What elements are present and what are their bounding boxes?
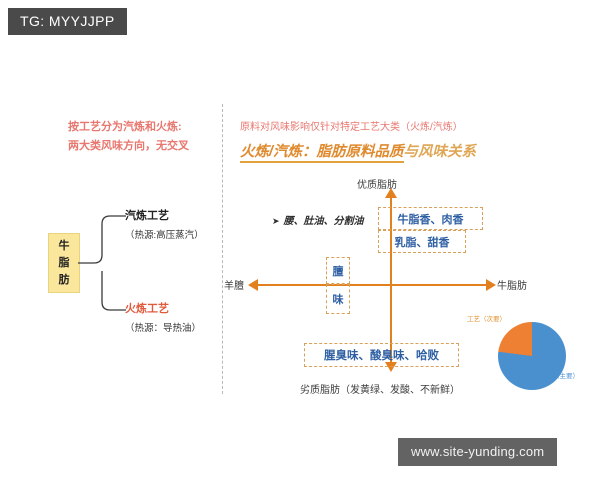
axis-label-top: 优质脂肪 <box>357 176 397 191</box>
bullet-marker-icon: ➤ <box>272 216 280 226</box>
branch-steam-sub: （热源:高压蒸汽） <box>125 227 204 241</box>
axis-label-right: 牛脂肪 <box>497 277 527 292</box>
quadrant1-box-secondary: 乳脂、甜香 <box>378 230 466 253</box>
right-panel-subtitle: 原料对风味影响仅针对特定工艺大类（火炼/汽炼） <box>240 118 463 133</box>
bullet-item-raw-materials: ➤腰、肚油、分割油 <box>272 212 364 227</box>
axis-arrow-right-icon <box>486 279 496 291</box>
axis-arrow-left-icon <box>248 279 258 291</box>
left-heading-line-1: 按工艺分为汽炼和火炼: <box>68 121 182 133</box>
branch-steam-title: 汽炼工艺 <box>125 210 169 222</box>
panel-divider <box>222 104 223 394</box>
left-panel-heading: 按工艺分为汽炼和火炼: 两大类风味方向，无交叉 <box>68 118 189 156</box>
branch-steam-rendering: 汽炼工艺 （热源:高压蒸汽） <box>125 206 204 241</box>
right-panel-title-underlined: 火炼/汽炼：脂肪原料品质 <box>240 144 404 163</box>
axis-label-bottom: 劣质脂肪（发黄绿、发酸、不新鲜） <box>300 381 460 396</box>
right-panel-title-tail: 与风味关系 <box>404 144 477 160</box>
quadrant2-box-bottom: 味 <box>326 284 350 314</box>
tg-badge: TG: MYYJJPP <box>8 8 127 35</box>
pie-label-raw-material: 原料（主要） <box>540 370 579 380</box>
bullet-item-label: 腰、肚油、分割油 <box>284 216 364 227</box>
root-node-label: 牛脂肪 <box>57 238 71 289</box>
quadrant1-box-primary: 牛脂香、肉香 <box>378 207 483 230</box>
right-panel-title: 火炼/汽炼：脂肪原料品质与风味关系 <box>240 140 476 161</box>
branch-fire-sub: （热源：导热油） <box>125 320 201 334</box>
quadrant2-box-top: 膻 <box>326 257 350 284</box>
root-node-beef-fat: 牛脂肪 <box>48 233 80 293</box>
watermark: www.site-yunding.com <box>398 438 557 466</box>
branch-fire-rendering: 火炼工艺 （热源：导热油） <box>125 299 201 334</box>
horizontal-axis <box>256 284 488 286</box>
branch-bracket <box>78 212 128 314</box>
quadrant-bottom-box: 腥臭味、酸臭味、哈败 <box>304 343 459 367</box>
left-heading-line-2: 两大类风味方向，无交叉 <box>68 137 189 156</box>
slide-canvas: TG: MYYJJPP 按工艺分为汽炼和火炼: 两大类风味方向，无交叉 牛脂肪 … <box>0 0 600 480</box>
axis-label-left: 羊膻 <box>224 277 244 292</box>
pie-label-process: 工艺（次要） <box>467 313 506 323</box>
branch-fire-title: 火炼工艺 <box>125 303 169 315</box>
